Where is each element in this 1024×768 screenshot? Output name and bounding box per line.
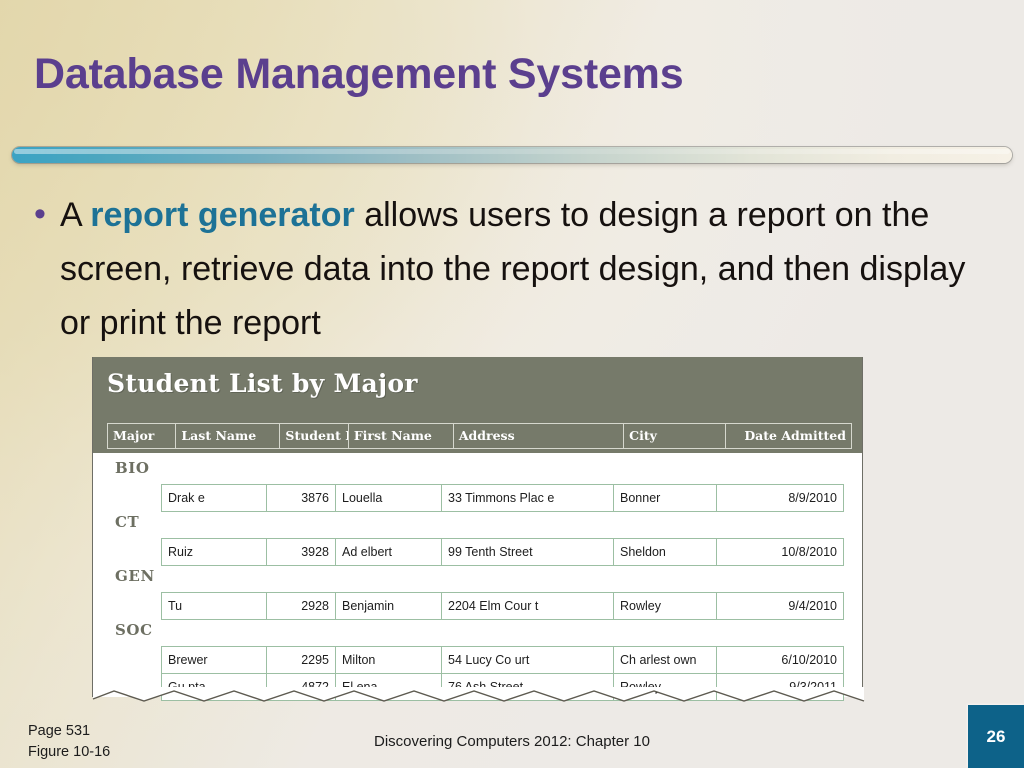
group-label-gen: GEN <box>115 567 155 585</box>
torn-paper-edge-icon <box>93 687 864 713</box>
cell-address: 33 Timmons Plac e <box>441 484 614 512</box>
cell-student-id: 2928 <box>266 592 336 620</box>
group-label-soc: SOC <box>115 621 153 639</box>
slide-number-badge: 26 <box>968 705 1024 768</box>
cell-first-name: Ad elbert <box>335 538 442 566</box>
group-label-bio: BIO <box>115 459 150 477</box>
column-header-city: City <box>623 423 726 449</box>
bullet-marker-icon: • <box>28 188 60 240</box>
cell-date-admitted: 10/8/2010 <box>716 538 844 566</box>
column-header-address: Address <box>453 423 624 449</box>
cell-date-admitted: 9/4/2010 <box>716 592 844 620</box>
page-title: Database Management Systems <box>34 52 974 97</box>
report-paper: Student List by Major MajorLast NameStud… <box>92 357 863 697</box>
cell-address: 54 Lucy Co urt <box>441 646 614 674</box>
cell-date-admitted: 8/9/2010 <box>716 484 844 512</box>
cell-city: Ch arlest own <box>613 646 717 674</box>
slide-canvas: Database Management Systems • A report g… <box>0 0 1024 768</box>
bullet-list: • A report generator allows users to des… <box>28 188 1006 350</box>
cell-address: 99 Tenth Street <box>441 538 614 566</box>
report-body: BIODrak e3876Louella33 Timmons Plac eBon… <box>93 453 862 697</box>
cell-last-name: Tu <box>161 592 267 620</box>
cell-date-admitted: 6/10/2010 <box>716 646 844 674</box>
cell-student-id: 2295 <box>266 646 336 674</box>
cell-city: Sheldon <box>613 538 717 566</box>
column-header-major: Major <box>107 423 176 449</box>
list-item: • A report generator allows users to des… <box>28 188 1006 350</box>
cell-address: 2204 Elm Cour t <box>441 592 614 620</box>
column-header-last-name: Last Name <box>175 423 280 449</box>
cell-first-name: Milton <box>335 646 442 674</box>
cell-last-name: Ruiz <box>161 538 267 566</box>
divider-bar <box>12 147 1012 163</box>
table-row: Drak e3876Louella33 Timmons Plac eBonner… <box>161 484 851 512</box>
group-label-ct: CT <box>115 513 139 531</box>
footer-credit: Discovering Computers 2012: Chapter 10 <box>0 733 1024 750</box>
table-header-row: MajorLast NameStudent IDFirst NameAddres… <box>107 423 851 449</box>
bullet-text: A report generator allows users to desig… <box>60 188 1000 350</box>
table-row: Tu2928Benjamin2204 Elm Cour tRowley9/4/2… <box>161 592 851 620</box>
column-header-student-id: Student ID <box>279 423 348 449</box>
cell-city: Bonner <box>613 484 717 512</box>
cell-student-id: 3928 <box>266 538 336 566</box>
table-row: Ruiz3928Ad elbert99 Tenth StreetSheldon1… <box>161 538 851 566</box>
column-header-date-admitted: Date Admitted <box>725 423 852 449</box>
cell-student-id: 3876 <box>266 484 336 512</box>
bullet-keyword: report generator <box>90 196 355 234</box>
cell-first-name: Benjamin <box>335 592 442 620</box>
title-divider <box>12 144 1012 166</box>
cell-city: Rowley <box>613 592 717 620</box>
report-title: Student List by Major <box>107 369 418 398</box>
table-row: Brewer2295Milton54 Lucy Co urtCh arlest … <box>161 646 851 674</box>
column-header-first-name: First Name <box>348 423 454 449</box>
report-header-band: Student List by Major MajorLast NameStud… <box>93 357 862 453</box>
cell-first-name: Louella <box>335 484 442 512</box>
cell-last-name: Brewer <box>161 646 267 674</box>
bullet-text-before: A <box>60 196 90 234</box>
figure-student-list-report: Student List by Major MajorLast NameStud… <box>92 357 863 713</box>
cell-last-name: Drak e <box>161 484 267 512</box>
